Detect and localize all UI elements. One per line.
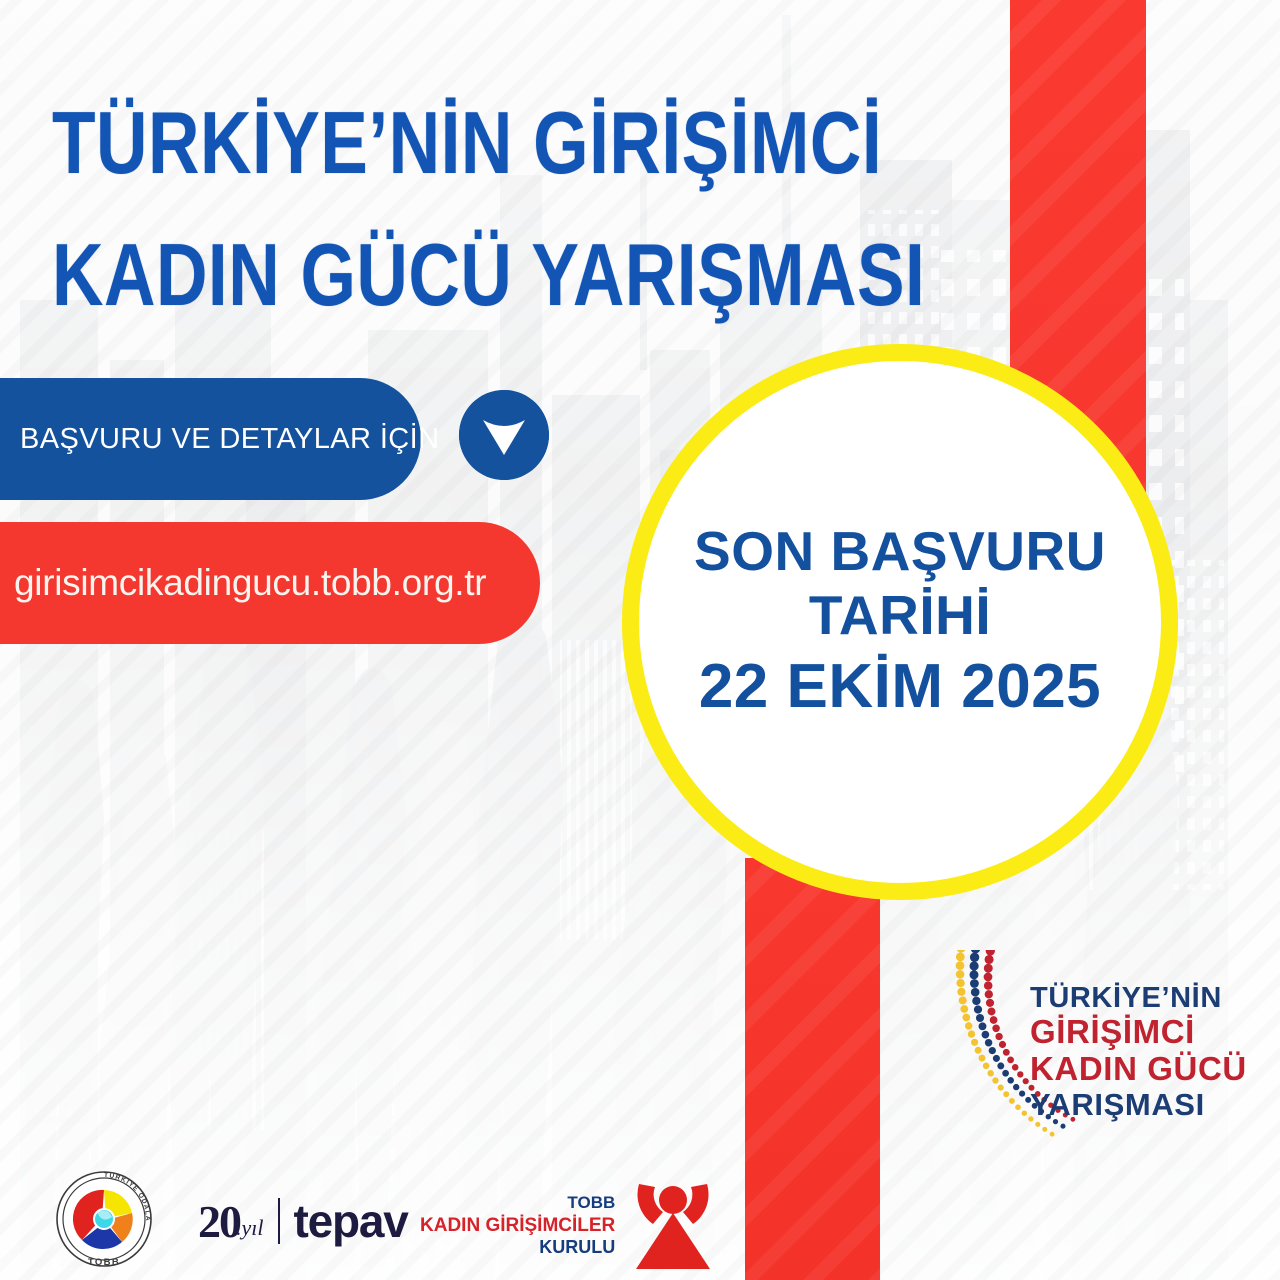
website-url-pill[interactable]: girisimcikadingucu.tobb.org.tr: [0, 522, 540, 644]
sponsor-bar: TÜRKİYE ODALAR VE BORSALAR BİRLİĞİ TOBB …: [0, 1168, 700, 1280]
chevron-down-icon[interactable]: [459, 390, 549, 480]
svg-text:TOBB: TOBB: [88, 1257, 120, 1268]
brand-line-3: KADIN GÜCÜ: [1030, 1051, 1247, 1088]
website-url-label: girisimcikadingucu.tobb.org.tr: [14, 562, 486, 604]
red-band-stripes: [745, 858, 880, 1280]
deadline-line-1: SON BAŞVURU: [694, 521, 1106, 583]
female-figure-icon: [627, 1180, 719, 1272]
tepav-wordmark: tepav: [294, 1194, 408, 1248]
brand-line-2: GİRİŞİMCİ: [1030, 1014, 1247, 1051]
competition-logo: TÜRKİYE’NİN GİRİŞİMCİ KADIN GÜCÜ YARIŞMA…: [938, 950, 1238, 1185]
red-band-bottom: [745, 858, 880, 1280]
tepav-anniversary-unit: .yıl: [236, 1215, 264, 1241]
tepav-anniversary-number: 20: [198, 1195, 240, 1248]
brand-line-4: YARIŞMASI: [1030, 1088, 1247, 1123]
title-line-2: KADIN GÜCÜ YARIŞMASI: [52, 210, 925, 342]
title-line-1: TÜRKİYE’NİN GİRİŞİMCİ: [52, 78, 925, 210]
poster-canvas: TÜRKİYE’NİN GİRİŞİMCİ KADIN GÜCÜ YARIŞMA…: [0, 0, 1280, 1280]
deadline-badge: SON BAŞVURU TARİHİ 22 EKİM 2025: [622, 344, 1178, 900]
tepav-logo: 20 .yıl tepav: [198, 1194, 408, 1248]
kgk-line-3: KURULU: [420, 1237, 615, 1259]
apply-cta-pill[interactable]: BAŞVURU VE DETAYLAR İÇİN: [0, 378, 421, 500]
brand-line-1: TÜRKİYE’NİN: [1030, 982, 1247, 1014]
page-title: TÜRKİYE’NİN GİRİŞİMCİ KADIN GÜCÜ YARIŞMA…: [52, 78, 934, 318]
kgk-line-1: TOBB: [420, 1193, 615, 1214]
deadline-line-2: TARİHİ: [809, 583, 991, 648]
apply-cta-label: BAŞVURU VE DETAYLAR İÇİN: [20, 423, 439, 456]
deadline-date: 22 EKİM 2025: [699, 650, 1101, 723]
tobb-logo: TÜRKİYE ODALAR VE BORSALAR BİRLİĞİ TOBB: [50, 1168, 158, 1274]
tobb-emblem-icon: TÜRKİYE ODALAR VE BORSALAR BİRLİĞİ TOBB: [50, 1168, 158, 1274]
tobb-kadin-girisimciler-kurulu-logo: TOBB KADIN GİRİŞİMCİLER KURULU: [420, 1180, 719, 1272]
tepav-divider: [278, 1198, 280, 1244]
kgk-line-2: KADIN GİRİŞİMCİLER: [420, 1214, 615, 1237]
